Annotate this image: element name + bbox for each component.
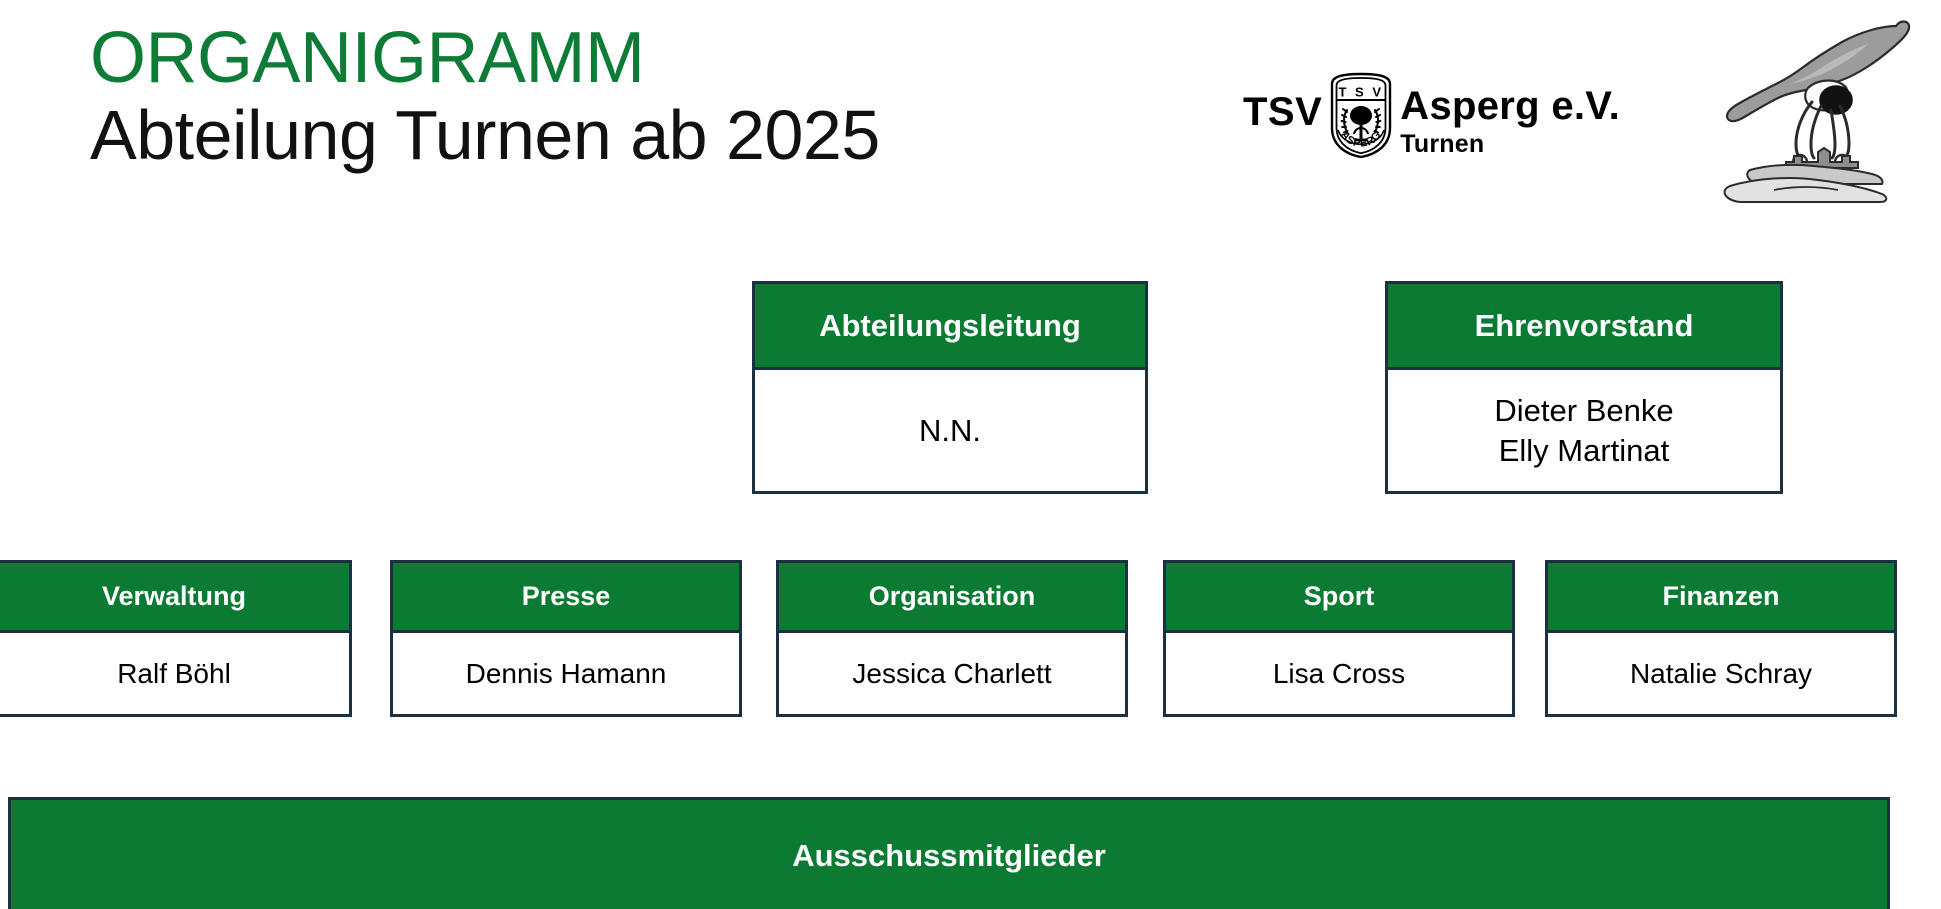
member-name: Natalie Schray — [1630, 656, 1812, 692]
logo-tsv-wordmark: TSV — [1243, 92, 1322, 132]
node-presse[interactable]: Presse Dennis Hamann — [390, 560, 742, 717]
page-title: ORGANIGRAMM Abteilung Turnen ab 2025 — [90, 22, 1090, 173]
node-title: Ehrenvorstand — [1388, 284, 1780, 370]
node-title: Sport — [1166, 563, 1512, 633]
logo-asperg-wordmark: Asperg e.V. — [1400, 86, 1620, 126]
node-title: Finanzen — [1548, 563, 1894, 633]
node-organisation[interactable]: Organisation Jessica Charlett — [776, 560, 1128, 717]
member-name: N.N. — [919, 411, 981, 451]
node-title: Organisation — [779, 563, 1125, 633]
member-name: Elly Martinat — [1499, 431, 1670, 471]
node-finanzen[interactable]: Finanzen Natalie Schray — [1545, 560, 1897, 717]
tsv-shield-icon: T S V ASPERG — [1328, 70, 1394, 160]
member-name: Dieter Benke — [1494, 391, 1673, 431]
node-members: Ralf Böhl — [0, 633, 349, 714]
gymnast-handstand-icon — [1690, 10, 1920, 210]
node-ausschussmitglieder[interactable]: Ausschussmitglieder — [8, 797, 1890, 909]
node-sport[interactable]: Sport Lisa Cross — [1163, 560, 1515, 717]
node-members: Dennis Hamann — [393, 633, 739, 714]
node-verwaltung[interactable]: Verwaltung Ralf Böhl — [0, 560, 352, 717]
node-members: Lisa Cross — [1166, 633, 1512, 714]
node-members: Natalie Schray — [1548, 633, 1894, 714]
node-ehrenvorstand[interactable]: Ehrenvorstand Dieter Benke Elly Martinat — [1385, 281, 1783, 494]
logo-turnen-subtitle: Turnen — [1400, 132, 1620, 157]
node-title: Verwaltung — [0, 563, 349, 633]
member-name: Jessica Charlett — [852, 656, 1051, 692]
node-abteilungsleitung[interactable]: Abteilungsleitung N.N. — [752, 281, 1148, 494]
node-members: N.N. — [755, 370, 1145, 491]
member-name: Ralf Böhl — [117, 656, 231, 692]
member-name: Dennis Hamann — [466, 656, 667, 692]
node-title: Abteilungsleitung — [755, 284, 1145, 370]
page-title-main: ORGANIGRAMM — [90, 22, 1090, 95]
node-members: Dieter Benke Elly Martinat — [1388, 370, 1780, 491]
page-title-sub: Abteilung Turnen ab 2025 — [90, 99, 1090, 173]
node-title: Ausschussmitglieder — [792, 838, 1106, 874]
member-name: Lisa Cross — [1273, 656, 1405, 692]
node-members: Jessica Charlett — [779, 633, 1125, 714]
tsv-asperg-logo: TSV T S V — [1243, 70, 1620, 166]
organigramm-canvas: ORGANIGRAMM Abteilung Turnen ab 2025 TSV… — [0, 0, 1941, 909]
node-title: Presse — [393, 563, 739, 633]
svg-text:T S V: T S V — [1339, 85, 1384, 100]
